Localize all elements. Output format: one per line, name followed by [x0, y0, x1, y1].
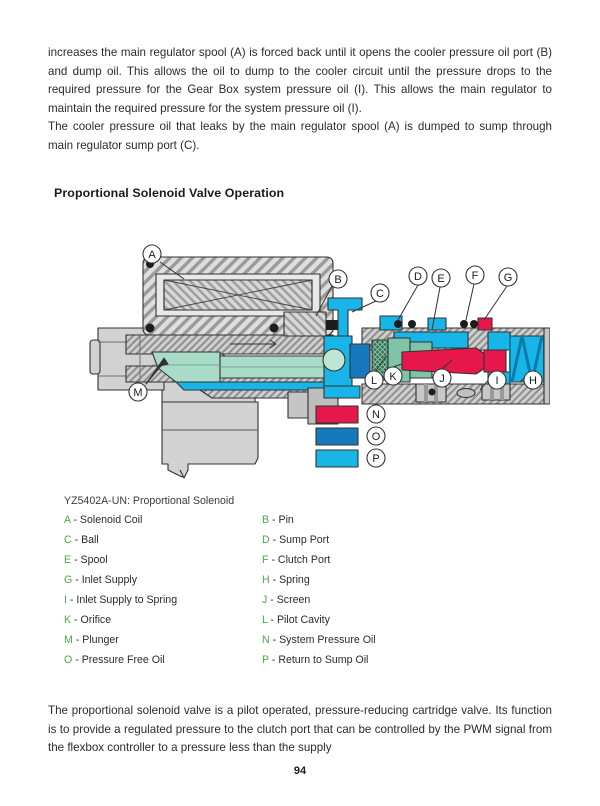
- svg-text:G: G: [504, 272, 513, 284]
- callout-I: I: [488, 371, 506, 389]
- svg-text:N: N: [372, 409, 380, 421]
- figure-caption: YZ5402A-UN: Proportional Solenoid: [64, 495, 234, 507]
- legend-label: Pin: [279, 514, 294, 526]
- legend-key: A: [64, 514, 70, 526]
- legend-item-k: K - Orifice: [64, 614, 111, 626]
- paragraph-top-part1: increases the main regulator spool (A) i…: [48, 44, 552, 118]
- section-title: Proportional Solenoid Valve Operation: [54, 186, 284, 200]
- legend-item-n: N - System Pressure Oil: [262, 634, 376, 646]
- callout-D: D: [409, 267, 427, 285]
- svg-text:B: B: [334, 274, 341, 286]
- legend-item-a: A - Solenoid Coil: [64, 514, 142, 526]
- legend-row: A - Solenoid Coil B - Pin: [64, 514, 484, 534]
- legend-key: O: [64, 654, 72, 666]
- legend-key: G: [64, 574, 72, 586]
- callout-F: F: [466, 266, 484, 284]
- legend-row: C - Ball D - Sump Port: [64, 534, 484, 554]
- legend-label: Solenoid Coil: [80, 514, 142, 526]
- callout-G: G: [499, 268, 517, 286]
- legend-label: Screen: [277, 594, 311, 606]
- legend-row: K - Orifice L - Pilot Cavity: [64, 614, 484, 634]
- svg-text:O: O: [372, 431, 381, 443]
- svg-text:H: H: [529, 375, 537, 387]
- svg-text:J: J: [439, 373, 445, 385]
- callout-J: J: [433, 369, 451, 387]
- svg-text:E: E: [437, 273, 444, 285]
- page-number: 94: [0, 765, 600, 777]
- legend-item-h: H - Spring: [262, 574, 310, 586]
- legend-item-b: B - Pin: [262, 514, 294, 526]
- figure-proportional-solenoid: A B C D E: [80, 232, 550, 480]
- legend-key: H: [262, 574, 270, 586]
- callout-C: C: [371, 284, 389, 302]
- legend-row: O - Pressure Free Oil P - Return to Sump…: [64, 654, 484, 674]
- legend-item-p: P - Return to Sump Oil: [262, 654, 368, 666]
- legend-item-c: C - Ball: [64, 534, 99, 546]
- legend-key: B: [262, 514, 269, 526]
- legend-label: Return to Sump Oil: [278, 654, 368, 666]
- legend-item-d: D - Sump Port: [262, 534, 329, 546]
- legend-label: Inlet Supply: [82, 574, 137, 586]
- legend-label: Spool: [81, 554, 108, 566]
- svg-text:C: C: [376, 288, 384, 300]
- callout-K: K: [384, 367, 402, 385]
- legend-row: M - Plunger N - System Pressure Oil: [64, 634, 484, 654]
- legend-key: C: [64, 534, 72, 546]
- figure-parts-legend: A - Solenoid Coil B - Pin C - Ball D - S…: [64, 514, 484, 674]
- legend-row: I - Inlet Supply to Spring J - Screen: [64, 594, 484, 614]
- color-legend-P: P: [316, 449, 385, 467]
- legend-label: Orifice: [81, 614, 112, 626]
- legend-label: Plunger: [82, 634, 119, 646]
- legend-label: Spring: [279, 574, 310, 586]
- color-legend-O: O: [316, 427, 385, 445]
- svg-text:A: A: [148, 249, 156, 261]
- legend-item-o: O - Pressure Free Oil: [64, 654, 165, 666]
- svg-text:K: K: [389, 371, 397, 383]
- legend-key: K: [64, 614, 71, 626]
- svg-text:M: M: [133, 387, 142, 399]
- legend-item-i: I - Inlet Supply to Spring: [64, 594, 177, 606]
- legend-item-e: E - Spool: [64, 554, 108, 566]
- paragraph-top: increases the main regulator spool (A) i…: [48, 44, 552, 156]
- legend-key: F: [262, 554, 268, 566]
- svg-text:L: L: [371, 375, 377, 387]
- callout-A: A: [143, 245, 161, 263]
- color-legend-N: N: [316, 405, 385, 423]
- legend-row: G - Inlet Supply H - Spring: [64, 574, 484, 594]
- legend-key: M: [64, 634, 73, 646]
- figure-color-legend: N O P: [316, 405, 385, 467]
- legend-key: P: [262, 654, 269, 666]
- spool-assembly: [350, 316, 550, 404]
- svg-text:D: D: [414, 271, 422, 283]
- callout-E: E: [432, 269, 450, 287]
- legend-key: D: [262, 534, 270, 546]
- legend-item-l: L - Pilot Cavity: [262, 614, 330, 626]
- callout-H: H: [524, 371, 542, 389]
- legend-key: E: [64, 554, 71, 566]
- svg-text:F: F: [472, 270, 479, 282]
- legend-label: Sump Port: [279, 534, 329, 546]
- callout-L: L: [365, 371, 383, 389]
- legend-item-j: J - Screen: [262, 594, 310, 606]
- legend-label: Clutch Port: [278, 554, 330, 566]
- plunger: [152, 352, 333, 382]
- paragraph-top-part2: The cooler pressure oil that leaks by th…: [48, 118, 552, 155]
- legend-row: E - Spool F - Clutch Port: [64, 554, 484, 574]
- legend-key: L: [262, 614, 268, 626]
- legend-key: I: [64, 594, 67, 606]
- legend-label: System Pressure Oil: [279, 634, 376, 646]
- legend-item-f: F - Clutch Port: [262, 554, 330, 566]
- legend-label: Pressure Free Oil: [82, 654, 165, 666]
- legend-key: N: [262, 634, 270, 646]
- legend-label: Inlet Supply to Spring: [76, 594, 177, 606]
- legend-label: Ball: [81, 534, 99, 546]
- document-page: increases the main regulator spool (A) i…: [0, 0, 600, 806]
- legend-key: J: [262, 594, 267, 606]
- svg-text:P: P: [372, 453, 379, 465]
- svg-text:I: I: [495, 375, 498, 387]
- callout-B: B: [329, 270, 347, 288]
- legend-item-g: G - Inlet Supply: [64, 574, 137, 586]
- paragraph-bottom: The proportional solenoid valve is a pil…: [48, 702, 552, 758]
- legend-label: Pilot Cavity: [277, 614, 330, 626]
- legend-item-m: M - Plunger: [64, 634, 119, 646]
- callout-M: M: [129, 383, 147, 401]
